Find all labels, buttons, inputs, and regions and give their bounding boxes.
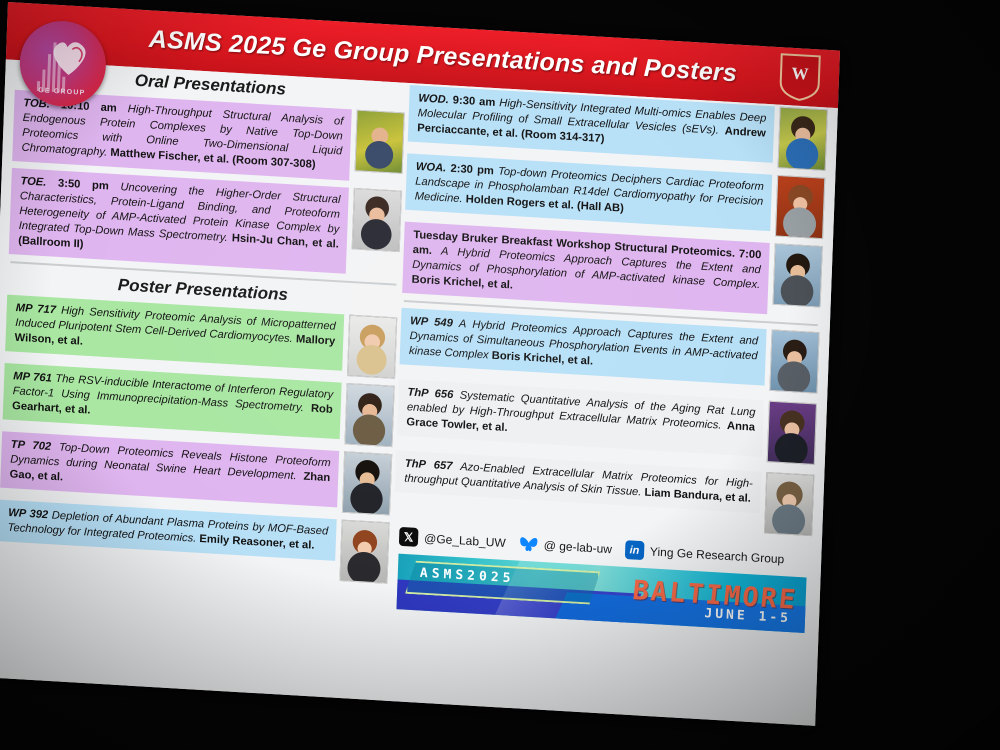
- oral-entry-woa: WOA. 2:30 pm Top-down Proteomics Deciphe…: [405, 153, 772, 231]
- entry-time: 2:30 pm: [450, 163, 494, 177]
- uw-madison-crest-icon: W: [778, 52, 822, 102]
- entry-code: TOE.: [20, 175, 46, 188]
- right-column: WOD. 9:30 am High-Sensitivity Integrated…: [391, 83, 828, 633]
- entry-code: TP 702: [11, 439, 52, 453]
- linkedin-handle[interactable]: Ying Ge Research Group: [650, 544, 785, 566]
- entry-code: WP 549: [410, 315, 453, 329]
- avatar: [339, 520, 389, 584]
- oral-entry-bruker-workshop: Tuesday Bruker Breakfast Workshop Struct…: [402, 222, 770, 315]
- avatar: [769, 329, 819, 393]
- bluesky-handle[interactable]: @ ge-lab-uw: [543, 538, 612, 556]
- list-item[interactable]: ThP 656 Systematic Quantitative Analysis…: [397, 379, 817, 465]
- entry-presenter: Boris Krichel, et al.: [492, 350, 594, 368]
- avatar: [764, 472, 814, 536]
- svg-text:W: W: [791, 64, 809, 84]
- entry-code: MP 717: [16, 302, 57, 316]
- bluesky-butterfly-glyph: [518, 535, 538, 552]
- entry-code: ThP 657: [405, 458, 453, 473]
- linkedin-icon[interactable]: in: [625, 540, 645, 560]
- left-column: Oral Presentations TOB. 10:10 am High-Th…: [0, 60, 406, 591]
- entry-title: Uncovering the Higher-Order Structural C…: [19, 181, 341, 244]
- avatar: [344, 383, 394, 447]
- x-twitter-icon[interactable]: 𝕏: [399, 527, 419, 547]
- entry-code: MP 761: [13, 370, 52, 384]
- poster-entry-thp657: ThP 657 Azo-Enabled Extracellular Matrix…: [395, 450, 762, 513]
- projected-slide-perspective: ASMS 2025 Ge Group Presentations and Pos…: [0, 2, 868, 745]
- list-item[interactable]: TOE. 3:50 pm Uncovering the Higher-Order…: [9, 168, 402, 277]
- slide-body: Oral Presentations TOB. 10:10 am High-Th…: [0, 59, 838, 725]
- poster-entry-thp656: ThP 656 Systematic Quantitative Analysis…: [397, 379, 764, 457]
- entry-presenter: Liam Bandura, et al.: [644, 487, 751, 505]
- avatar: [767, 401, 817, 465]
- entry-presenter: Boris Krichel, et al.: [411, 274, 513, 292]
- entry-code: WP 392: [8, 507, 48, 521]
- x-twitter-handle[interactable]: @Ge_Lab_UW: [424, 531, 506, 550]
- poster-entry-mp717: MP 717 High Sensitivity Proteomic Analys…: [5, 295, 344, 371]
- bluesky-butterfly-icon[interactable]: [518, 534, 538, 554]
- entry-time: 9:30 am: [453, 95, 496, 109]
- projection-room: ASMS 2025 Ge Group Presentations and Pos…: [0, 0, 1000, 750]
- avatar: [352, 188, 402, 252]
- entry-code: WOD.: [418, 92, 449, 106]
- entry-code: ThP 656: [407, 387, 453, 402]
- avatar: [775, 175, 825, 239]
- avatar: [773, 243, 823, 307]
- avatar: [342, 451, 392, 515]
- avatar: [355, 110, 405, 174]
- oral-entry-toe: TOE. 3:50 pm Uncovering the Higher-Order…: [9, 168, 349, 274]
- list-item[interactable]: WP 392 Depletion of Abundant Plasma Prot…: [0, 500, 390, 584]
- avatar: [347, 315, 397, 379]
- avatar: [778, 107, 828, 171]
- poster-entry-tp702: TP 702 Top-Down Proteomics Reveals Histo…: [0, 431, 339, 507]
- entry-code: WOA.: [416, 161, 447, 175]
- poster-entry-mp761: MP 761 The RSV-inducible Interactome of …: [3, 363, 342, 439]
- presentation-slide: ASMS 2025 Ge Group Presentations and Pos…: [0, 2, 840, 726]
- entry-time: 3:50 pm: [58, 178, 109, 193]
